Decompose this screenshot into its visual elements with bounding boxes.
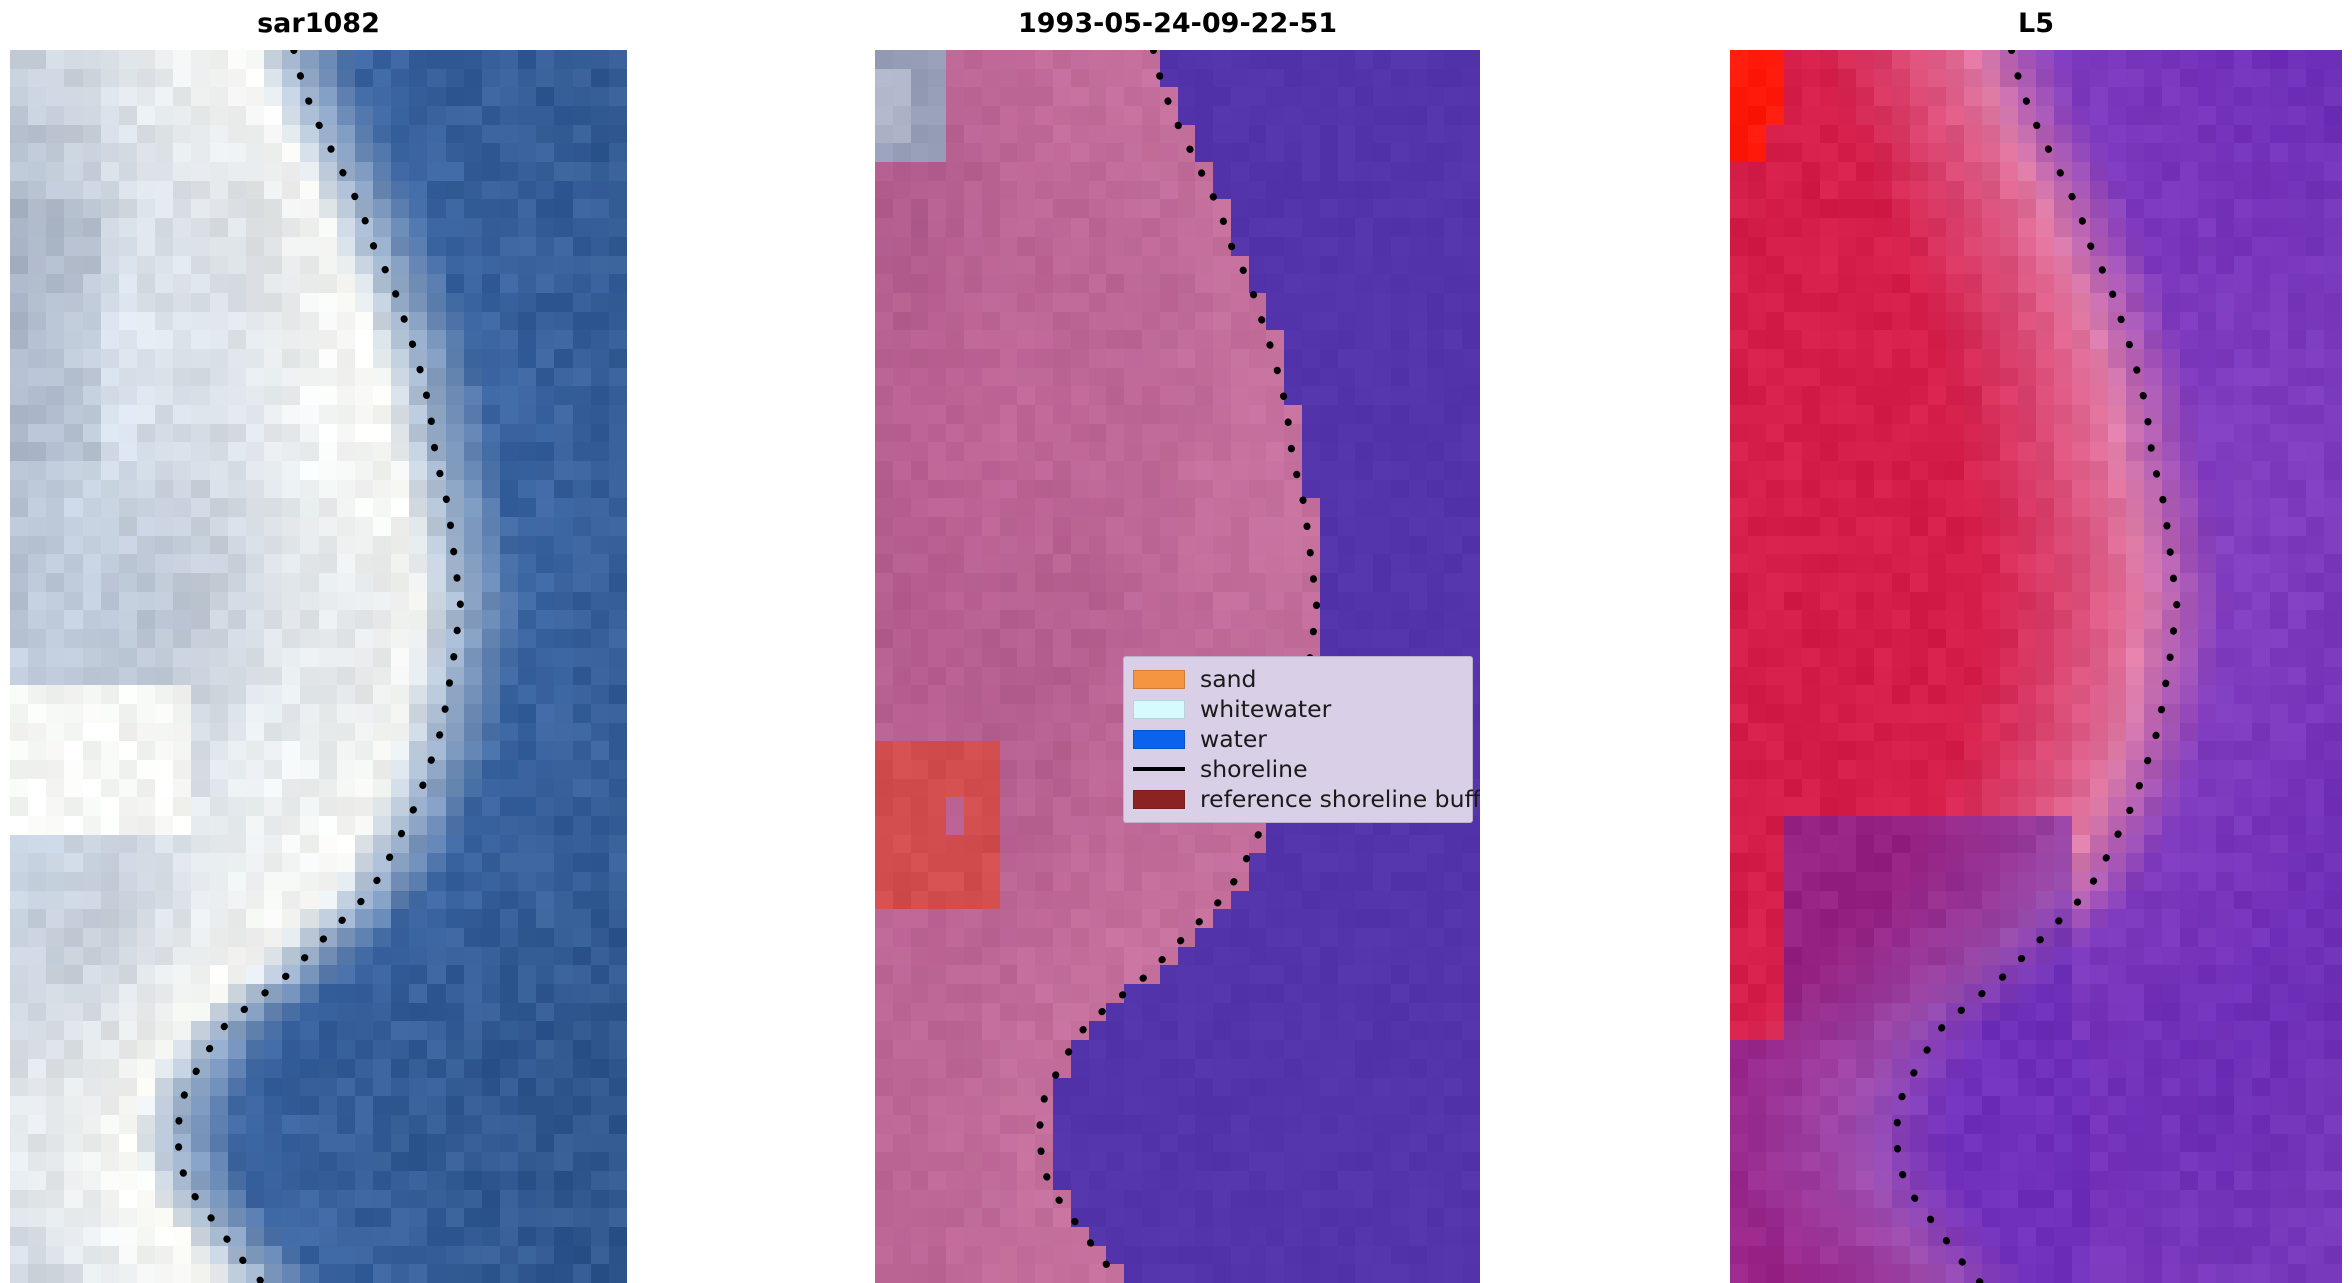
panel-sar: sar1082 bbox=[10, 0, 627, 1283]
l5-raster bbox=[1730, 50, 2342, 1283]
sar-raster bbox=[10, 50, 627, 1283]
panel-classification: 1993-05-24-09-22-51 sand whitewater wate… bbox=[875, 0, 1480, 1283]
panel-title-classification: 1993-05-24-09-22-51 bbox=[875, 2, 1480, 46]
panel-l5: L5 bbox=[1730, 0, 2342, 1283]
sand-swatch bbox=[1133, 670, 1185, 689]
legend-label-water: water bbox=[1200, 724, 1267, 754]
legend-item-water: water bbox=[1133, 724, 1463, 754]
legend-item-sand: sand bbox=[1133, 664, 1463, 694]
panel-title-sar: sar1082 bbox=[10, 2, 627, 46]
reference-buffer-swatch bbox=[1133, 790, 1185, 809]
legend-item-whitewater: whitewater bbox=[1133, 694, 1463, 724]
legend-item-shoreline: shoreline bbox=[1133, 754, 1463, 784]
legend-label-shoreline: shoreline bbox=[1200, 754, 1308, 784]
legend: sand whitewater water shoreline referenc… bbox=[1123, 656, 1473, 823]
legend-label-sand: sand bbox=[1200, 664, 1256, 694]
legend-label-whitewater: whitewater bbox=[1200, 694, 1331, 724]
water-swatch bbox=[1133, 730, 1185, 749]
legend-label-reference-buffer: reference shoreline buffer bbox=[1200, 784, 1480, 814]
figure-root: sar1082 1993-05-24-09-22-51 sand whitewa… bbox=[0, 0, 2352, 1283]
shoreline-swatch bbox=[1133, 767, 1185, 771]
legend-item-reference-buffer: reference shoreline buffer bbox=[1133, 784, 1463, 814]
whitewater-swatch bbox=[1133, 700, 1185, 719]
axes-sar[interactable] bbox=[10, 50, 627, 1283]
axes-classification[interactable]: sand whitewater water shoreline referenc… bbox=[875, 50, 1480, 1283]
axes-l5[interactable] bbox=[1730, 50, 2342, 1283]
panel-title-l5: L5 bbox=[1730, 2, 2342, 46]
